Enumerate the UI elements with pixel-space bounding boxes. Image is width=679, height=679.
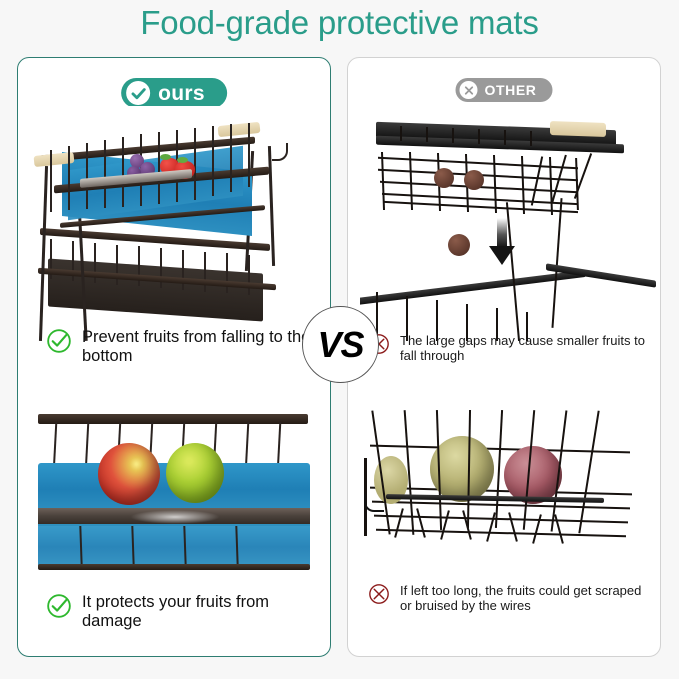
vs-badge: VS [302,306,379,383]
wood-handle [218,122,261,137]
feature-ours-1: Prevent fruits from falling to the botto… [46,328,311,367]
photo-closeup-apples-resting-on-blue-mat [20,398,330,583]
check-circle-icon [126,81,150,105]
x-circle-icon [460,81,478,99]
feature-ours-2: It protects your fruits from damage [46,593,311,632]
photo-two-tier-basket-with-blue-mat [20,106,330,341]
fruit-red-plum [504,446,562,504]
fruit-green-apple [166,443,224,503]
fruit-small-round [464,170,484,190]
photo-bare-wire-basket-fruit-falling-through [360,106,660,341]
feature-other-2: If left too long, the fruits could get s… [368,583,653,614]
fruit-red-apple [98,443,160,505]
fruit-falling [448,234,470,256]
x-circle-icon [368,583,390,610]
fruit-small-round [434,168,454,188]
feature-ours-2-text: It protects your fruits from damage [82,593,311,632]
badge-ours: ours [121,78,227,108]
panel-other: OTHER [347,57,661,657]
page-title: Food-grade protective mats [0,4,679,42]
feature-other-2-text: If left too long, the fruits could get s… [400,583,653,614]
photo-closeup-fruits-pressed-against-bare-wires [362,398,658,578]
badge-ours-label: ours [158,83,205,104]
feature-ours-1-text: Prevent fruits from falling to the botto… [82,328,311,367]
feature-other-1-text: The large gaps may cause smaller fruits … [400,333,648,364]
check-circle-icon [46,593,72,624]
badge-other: OTHER [456,78,553,102]
badge-other-label: OTHER [485,83,537,97]
check-circle-icon [46,328,72,359]
feature-other-1: The large gaps may cause smaller fruits … [368,333,648,364]
panel-ours: ours [17,57,331,657]
